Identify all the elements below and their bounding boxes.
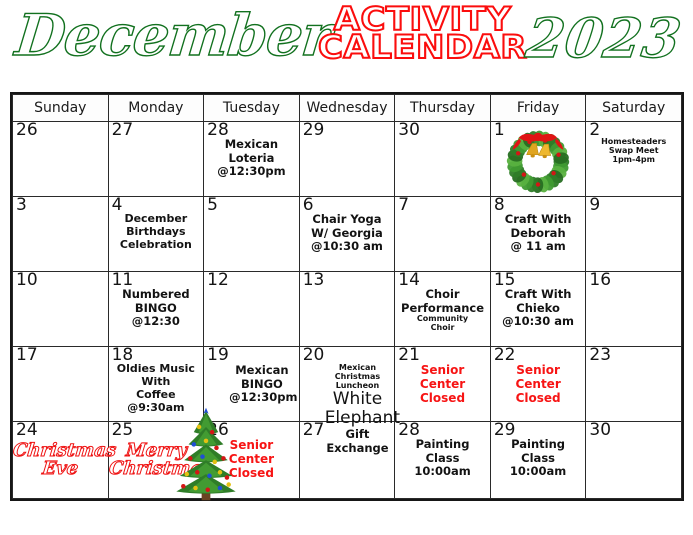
event-line: @ 11 am bbox=[494, 240, 583, 254]
event-line: Deborah bbox=[494, 227, 583, 241]
calendar-day-cell-16[interactable]: 16 bbox=[586, 272, 682, 347]
calendar-grid: SundayMondayTuesdayWednesdayThursdayFrid… bbox=[10, 92, 684, 501]
event-line: W/ Georgia bbox=[303, 227, 392, 241]
calendar-day-cell-4[interactable]: 4DecemberBirthdaysCelebration bbox=[108, 197, 204, 272]
day-number: 21 bbox=[398, 345, 420, 366]
event-line: Chieko bbox=[494, 302, 583, 316]
event-line: Painting Class bbox=[398, 438, 487, 465]
day-number: 15 bbox=[494, 270, 516, 291]
event-line: BINGO bbox=[112, 302, 201, 316]
event-line: 10:00am bbox=[494, 465, 583, 479]
event-line: @12:30pm bbox=[229, 391, 295, 405]
calendar-day-cell-1[interactable]: 1 bbox=[490, 122, 586, 197]
calendar-day-cell-14[interactable]: 14ChoirPerformanceCommunityChoir bbox=[395, 272, 491, 347]
event-line: Mexican bbox=[229, 364, 295, 378]
day-number: 12 bbox=[207, 270, 229, 291]
day-number: 24 bbox=[16, 420, 38, 441]
day-number: 8 bbox=[494, 195, 505, 216]
calendar-word: CALENDAR bbox=[318, 34, 527, 62]
calendar-week-row: 262728MexicanLoteria@12:30pm293012Homest… bbox=[13, 122, 682, 197]
weekday-header-tuesday: Tuesday bbox=[204, 95, 300, 122]
event-line: Loteria bbox=[207, 152, 296, 166]
day-events: Painting Class10:00am bbox=[395, 438, 490, 479]
calendar-day-cell-20[interactable]: 20Mexican ChristmasLuncheonWhiteElephant… bbox=[299, 347, 395, 422]
calendar-day-cell-27[interactable]: 27 bbox=[108, 122, 204, 197]
day-number: 29 bbox=[494, 420, 516, 441]
event-line: White bbox=[325, 390, 391, 409]
day-number: 25 bbox=[112, 420, 134, 441]
calendar-day-cell-28[interactable]: 28Painting Class10:00am bbox=[395, 422, 491, 499]
calendar-week-row: 1718Oldies MusicWithCoffee@9:30am19Mexic… bbox=[13, 347, 682, 422]
calendar-day-cell-2[interactable]: 2HomesteadersSwap Meet1pm-4pm bbox=[586, 122, 682, 197]
day-number: 16 bbox=[589, 270, 611, 291]
weekday-header-thursday: Thursday bbox=[395, 95, 491, 122]
year-title: 2023 bbox=[522, 6, 685, 70]
event-line: Chair Yoga bbox=[303, 213, 392, 227]
day-events: HomesteadersSwap Meet1pm-4pm bbox=[586, 138, 681, 164]
event-line: BINGO bbox=[229, 378, 295, 392]
calendar-day-cell-15[interactable]: 15Craft WithChieko@10:30 am bbox=[490, 272, 586, 347]
day-number: 28 bbox=[207, 120, 229, 141]
holiday-greeting-line: Eve bbox=[12, 460, 108, 478]
event-line: 1pm-4pm bbox=[589, 156, 678, 165]
event-line: Celebration bbox=[112, 239, 201, 252]
day-events: Chair YogaW/ Georgia@10:30 am bbox=[300, 213, 395, 254]
calendar-day-cell-10[interactable]: 10 bbox=[13, 272, 109, 347]
day-number: 22 bbox=[494, 345, 516, 366]
event-line: @10:30 am bbox=[303, 240, 392, 254]
day-events: MexicanLoteria@12:30pm bbox=[204, 138, 299, 179]
calendar-week-row: 1011NumberedBINGO@12:30121314ChoirPerfor… bbox=[13, 272, 682, 347]
calendar-day-cell-3[interactable]: 3 bbox=[13, 197, 109, 272]
day-events: Senior CenterClosed bbox=[491, 363, 586, 405]
day-number: 1 bbox=[494, 120, 505, 141]
calendar-day-cell-13[interactable]: 13 bbox=[299, 272, 395, 347]
calendar-day-cell-30[interactable]: 30 bbox=[395, 122, 491, 197]
day-events: Senior CenterClosed bbox=[204, 438, 299, 480]
day-number: 9 bbox=[589, 195, 600, 216]
event-line: Birthdays bbox=[112, 226, 201, 239]
event-line: Elephant bbox=[325, 409, 391, 428]
calendar-header: December ACTIVITY CALENDAR 2023 bbox=[0, 0, 693, 92]
day-events: Craft WithChieko@10:30 am bbox=[491, 288, 586, 329]
calendar-day-cell-22[interactable]: 22Senior CenterClosed bbox=[490, 347, 586, 422]
day-events: Craft WithDeborah@ 11 am bbox=[491, 213, 586, 254]
event-line: Closed bbox=[207, 466, 296, 480]
event-line: With bbox=[112, 376, 201, 389]
calendar-day-cell-25[interactable]: 25MerryChristmas bbox=[108, 422, 204, 499]
weekday-header-saturday: Saturday bbox=[586, 95, 682, 122]
weekday-header-wednesday: Wednesday bbox=[299, 95, 395, 122]
day-events: Oldies MusicWithCoffee@9:30am bbox=[109, 363, 204, 415]
month-title: December bbox=[12, 2, 334, 69]
calendar-day-cell-5[interactable]: 5 bbox=[204, 197, 300, 272]
event-line: Painting Class bbox=[494, 438, 583, 465]
calendar-day-cell-12[interactable]: 12 bbox=[204, 272, 300, 347]
calendar-day-cell-7[interactable]: 7 bbox=[395, 197, 491, 272]
weekday-header-sunday: Sunday bbox=[13, 95, 109, 122]
day-number: 17 bbox=[16, 345, 38, 366]
day-number: 4 bbox=[112, 195, 123, 216]
event-line: Closed bbox=[494, 391, 583, 405]
calendar-day-cell-23[interactable]: 23 bbox=[586, 347, 682, 422]
holiday-greeting: ChristmasEve bbox=[13, 442, 108, 478]
day-number: 20 bbox=[303, 345, 325, 366]
calendar-day-cell-26[interactable]: 26 bbox=[13, 122, 109, 197]
event-line: @9:30am bbox=[112, 402, 201, 415]
calendar-day-cell-29[interactable]: 29Painting Class10:00am bbox=[490, 422, 586, 499]
calendar-day-cell-21[interactable]: 21Senior CenterClosed bbox=[395, 347, 491, 422]
calendar-day-cell-18[interactable]: 18Oldies MusicWithCoffee@9:30am bbox=[108, 347, 204, 422]
day-number: 13 bbox=[303, 270, 325, 291]
day-events: Senior CenterClosed bbox=[395, 363, 490, 405]
day-events: MexicanBINGO@12:30pm bbox=[226, 364, 298, 405]
day-number: 18 bbox=[112, 345, 134, 366]
event-line: Performance bbox=[398, 302, 487, 316]
event-line: @12:30pm bbox=[207, 165, 296, 179]
calendar-day-cell-24[interactable]: 24ChristmasEve bbox=[13, 422, 109, 499]
weekday-header-monday: Monday bbox=[108, 95, 204, 122]
day-number: 29 bbox=[303, 120, 325, 141]
weekday-header-row: SundayMondayTuesdayWednesdayThursdayFrid… bbox=[13, 95, 682, 122]
day-number: 2 bbox=[589, 120, 600, 141]
event-line: Closed bbox=[398, 391, 487, 405]
calendar-day-cell-17[interactable]: 17 bbox=[13, 347, 109, 422]
day-number: 19 bbox=[207, 345, 229, 366]
calendar-day-cell-19[interactable]: 19MexicanBINGO@12:30pm bbox=[204, 347, 300, 422]
day-number: 3 bbox=[16, 195, 27, 216]
day-number: 30 bbox=[398, 120, 420, 141]
day-events: NumberedBINGO@12:30 bbox=[109, 288, 204, 329]
day-number: 26 bbox=[16, 120, 38, 141]
event-line: 10:00am bbox=[398, 465, 487, 479]
day-number: 26 bbox=[207, 420, 229, 441]
day-number: 5 bbox=[207, 195, 218, 216]
activity-calendar-title: ACTIVITY CALENDAR bbox=[318, 6, 515, 61]
day-number: 23 bbox=[589, 345, 611, 366]
wreath-icon bbox=[501, 125, 575, 193]
calendar-day-cell-28[interactable]: 28MexicanLoteria@12:30pm bbox=[204, 122, 300, 197]
day-number: 11 bbox=[112, 270, 134, 291]
calendar-day-cell-11[interactable]: 11NumberedBINGO@12:30 bbox=[108, 272, 204, 347]
calendar-day-cell-8[interactable]: 8Craft WithDeborah@ 11 am bbox=[490, 197, 586, 272]
event-line: Senior Center bbox=[494, 363, 583, 391]
day-number: 10 bbox=[16, 270, 38, 291]
holiday-greeting: MerryChristmas bbox=[109, 442, 204, 478]
day-number: 7 bbox=[398, 195, 409, 216]
day-events: Painting Class10:00am bbox=[491, 438, 586, 479]
day-number: 27 bbox=[112, 120, 134, 141]
calendar-day-cell-9[interactable]: 9 bbox=[586, 197, 682, 272]
calendar-day-cell-26[interactable]: 26Senior CenterClosed bbox=[204, 422, 300, 499]
calendar-day-cell-29[interactable]: 29 bbox=[299, 122, 395, 197]
weekday-header-friday: Friday bbox=[490, 95, 586, 122]
day-number: 27 bbox=[303, 420, 325, 441]
event-line: @12:30 bbox=[112, 315, 201, 329]
day-number: 30 bbox=[589, 420, 611, 441]
event-line: @10:30 am bbox=[494, 315, 583, 329]
event-line: Craft With bbox=[494, 213, 583, 227]
day-number: 28 bbox=[398, 420, 420, 441]
event-line: Gift Exchange bbox=[325, 428, 391, 455]
calendar-day-cell-6[interactable]: 6Chair YogaW/ Georgia@10:30 am bbox=[299, 197, 395, 272]
event-line: Mexican Christmas bbox=[325, 364, 391, 382]
calendar-week-row: 34DecemberBirthdaysCelebration56Chair Yo… bbox=[13, 197, 682, 272]
holiday-greeting-line: Christmas bbox=[108, 460, 204, 478]
event-line: Choir bbox=[398, 324, 487, 333]
event-line: Senior Center bbox=[207, 438, 296, 466]
event-line: Coffee bbox=[112, 389, 201, 402]
event-line: Senior Center bbox=[398, 363, 487, 391]
calendar-day-cell-30[interactable]: 30 bbox=[586, 422, 682, 499]
day-events: ChoirPerformanceCommunityChoir bbox=[395, 288, 490, 333]
day-events: Mexican ChristmasLuncheonWhiteElephantGi… bbox=[322, 364, 394, 456]
day-number: 6 bbox=[303, 195, 314, 216]
day-number: 14 bbox=[398, 270, 420, 291]
day-events: DecemberBirthdaysCelebration bbox=[109, 213, 204, 252]
